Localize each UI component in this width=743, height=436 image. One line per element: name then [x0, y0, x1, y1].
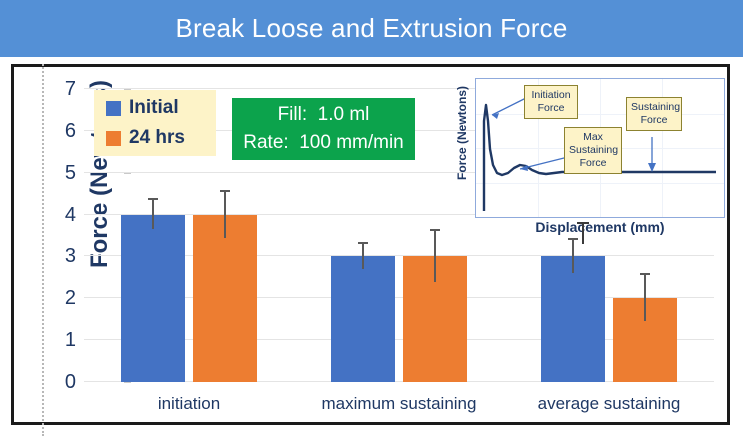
inset-force-curve-figure: Force (Newtons) Initiation Force Max Sus… [443, 74, 733, 222]
error-bar-cap [568, 238, 578, 240]
error-bar [644, 275, 646, 321]
x-category-label: initiation [84, 394, 294, 414]
callout-max-sustaining-force: Max Sustaining Force [564, 127, 622, 174]
error-bar-cap [148, 198, 158, 200]
bar-initiation-Initial[interactable] [121, 215, 185, 382]
y-tick-label: 7 [46, 79, 76, 99]
title-banner: Break Loose and Extrusion Force [0, 0, 743, 57]
square-swatch-icon [106, 131, 121, 146]
y-axis-ticks: 01234567 [46, 89, 76, 382]
error-bar [572, 240, 574, 273]
x-category-label: average sustaining [504, 394, 714, 414]
error-bar [434, 231, 436, 281]
error-bar-cap [220, 190, 230, 192]
callout-initiation-force: Initiation Force [524, 85, 578, 119]
bar-average-sustaining-Initial[interactable] [541, 256, 605, 382]
y-tick-label: 6 [46, 121, 76, 141]
page-title: Break Loose and Extrusion Force [175, 13, 567, 44]
y-tick-label: 1 [46, 330, 76, 350]
bar-maximum-sustaining-Initial[interactable] [331, 256, 395, 382]
bar-initiation-24-hrs[interactable] [193, 215, 257, 382]
chart-legend: Initial 24 hrs [94, 90, 216, 156]
legend-item-24hrs: 24 hrs [106, 123, 216, 153]
inset-y-axis-label: Force (Newtons) [455, 77, 469, 189]
inset-plot-area: Initiation Force Max Sustaining Force Su… [475, 78, 725, 218]
error-bar [362, 244, 364, 269]
y-tick-mark [124, 382, 131, 383]
inset-x-axis-label: Displacement (mm) [475, 219, 725, 235]
y-tick-label: 4 [46, 205, 76, 225]
legend-label: 24 hrs [129, 127, 185, 149]
dotted-guide-line [42, 64, 44, 436]
y-tick-label: 0 [46, 372, 76, 392]
legend-label: Initial [129, 97, 179, 119]
legend-item-initial: Initial [106, 93, 216, 123]
info-line-fill: Fill: 1.0 ml [278, 101, 370, 130]
y-tick-label: 2 [46, 288, 76, 308]
error-bar [152, 200, 154, 229]
info-line-rate: Rate: 100 mm/min [243, 129, 404, 158]
error-bar-cap [430, 229, 440, 231]
inset-pointer-line [582, 222, 584, 244]
callout-sustaining-force: Sustaining Force [626, 97, 682, 131]
square-swatch-icon [106, 101, 121, 116]
x-category-label: maximum sustaining [294, 394, 504, 414]
parameters-info-box: Fill: 1.0 ml Rate: 100 mm/min [232, 98, 415, 160]
error-bar [224, 192, 226, 238]
error-bar-cap [358, 242, 368, 244]
y-tick-label: 5 [46, 163, 76, 183]
y-tick-label: 3 [46, 246, 76, 266]
error-bar-cap [640, 273, 650, 275]
inset-pointer-cap [577, 222, 589, 224]
